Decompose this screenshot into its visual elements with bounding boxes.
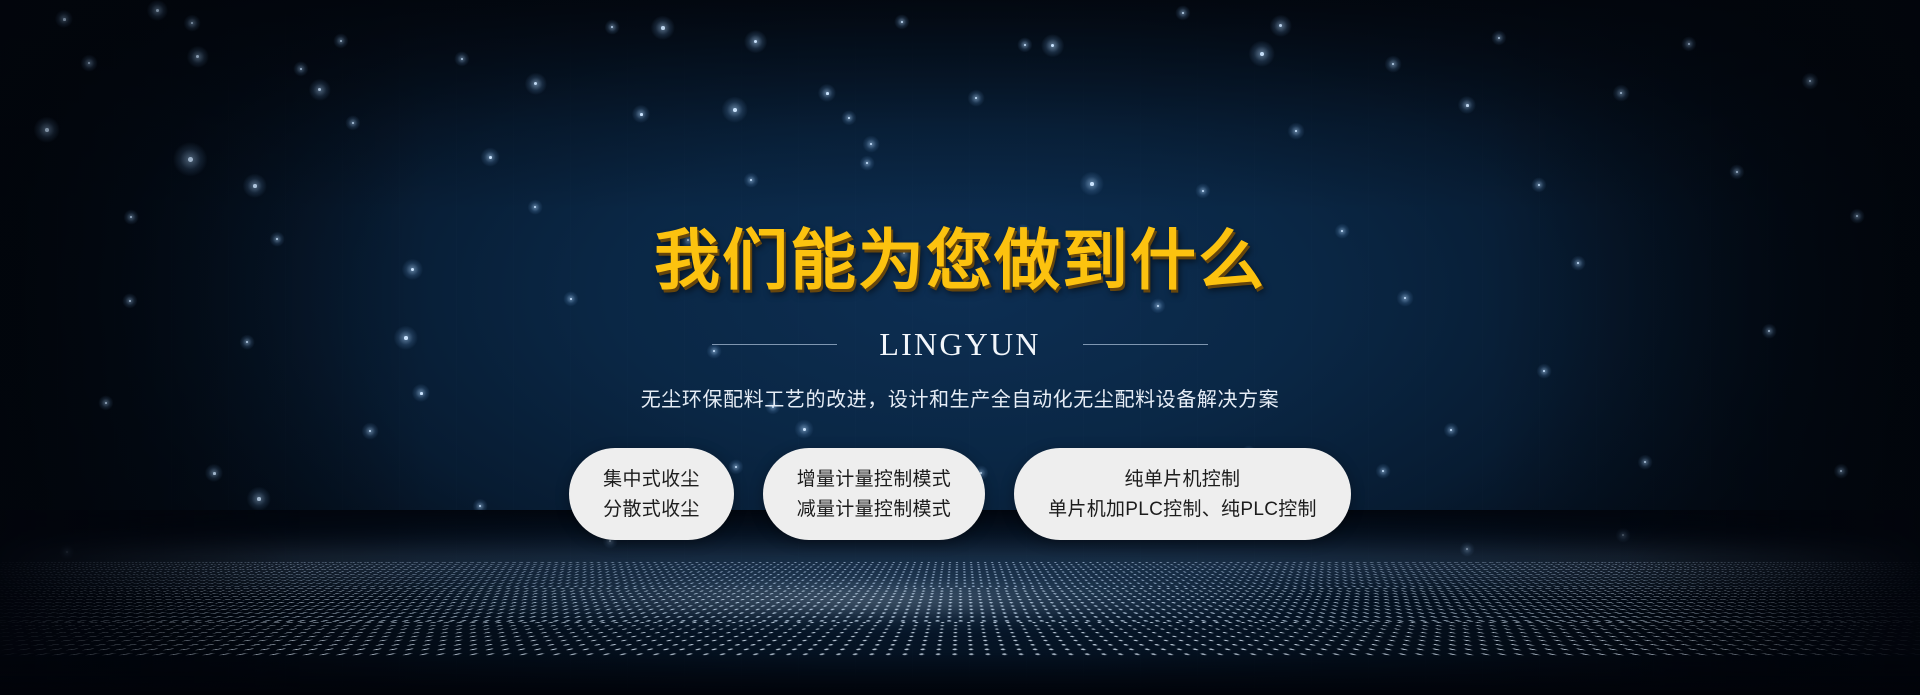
hero-tagline: 无尘环保配料工艺的改进，设计和生产全自动化无尘配料设备解决方案 — [0, 383, 1920, 412]
feature-card-line-2: 减量计量控制模式 — [797, 500, 951, 519]
hero-headline: 我们能为您做到什么 — [0, 228, 1920, 294]
divider-line-left — [712, 344, 837, 345]
particle-wave-glow — [422, 576, 1305, 622]
feature-card-list: 集中式收尘 分散式收尘 增量计量控制模式 减量计量控制模式 纯单片机控制 单片机… — [0, 448, 1920, 540]
feature-card-line-2: 分散式收尘 — [603, 500, 700, 519]
hero-banner: 我们能为您做到什么 LINGYUN 无尘环保配料工艺的改进，设计和生产全自动化无… — [0, 0, 1920, 695]
divider-line-right — [1083, 344, 1208, 345]
feature-card[interactable]: 增量计量控制模式 减量计量控制模式 — [763, 448, 985, 540]
particle-wave-bottom-fade — [0, 653, 1920, 695]
feature-card-line-2: 单片机加PLC控制、纯PLC控制 — [1048, 500, 1317, 519]
feature-card-line-1: 纯单片机控制 — [1125, 470, 1241, 489]
feature-card-line-1: 增量计量控制模式 — [797, 470, 951, 489]
feature-card[interactable]: 集中式收尘 分散式收尘 — [569, 448, 734, 540]
feature-card[interactable]: 纯单片机控制 单片机加PLC控制、纯PLC控制 — [1014, 448, 1351, 540]
feature-card-line-1: 集中式收尘 — [603, 470, 700, 489]
brand-name: LINGYUN — [879, 328, 1040, 360]
brand-row: LINGYUN — [0, 328, 1920, 360]
